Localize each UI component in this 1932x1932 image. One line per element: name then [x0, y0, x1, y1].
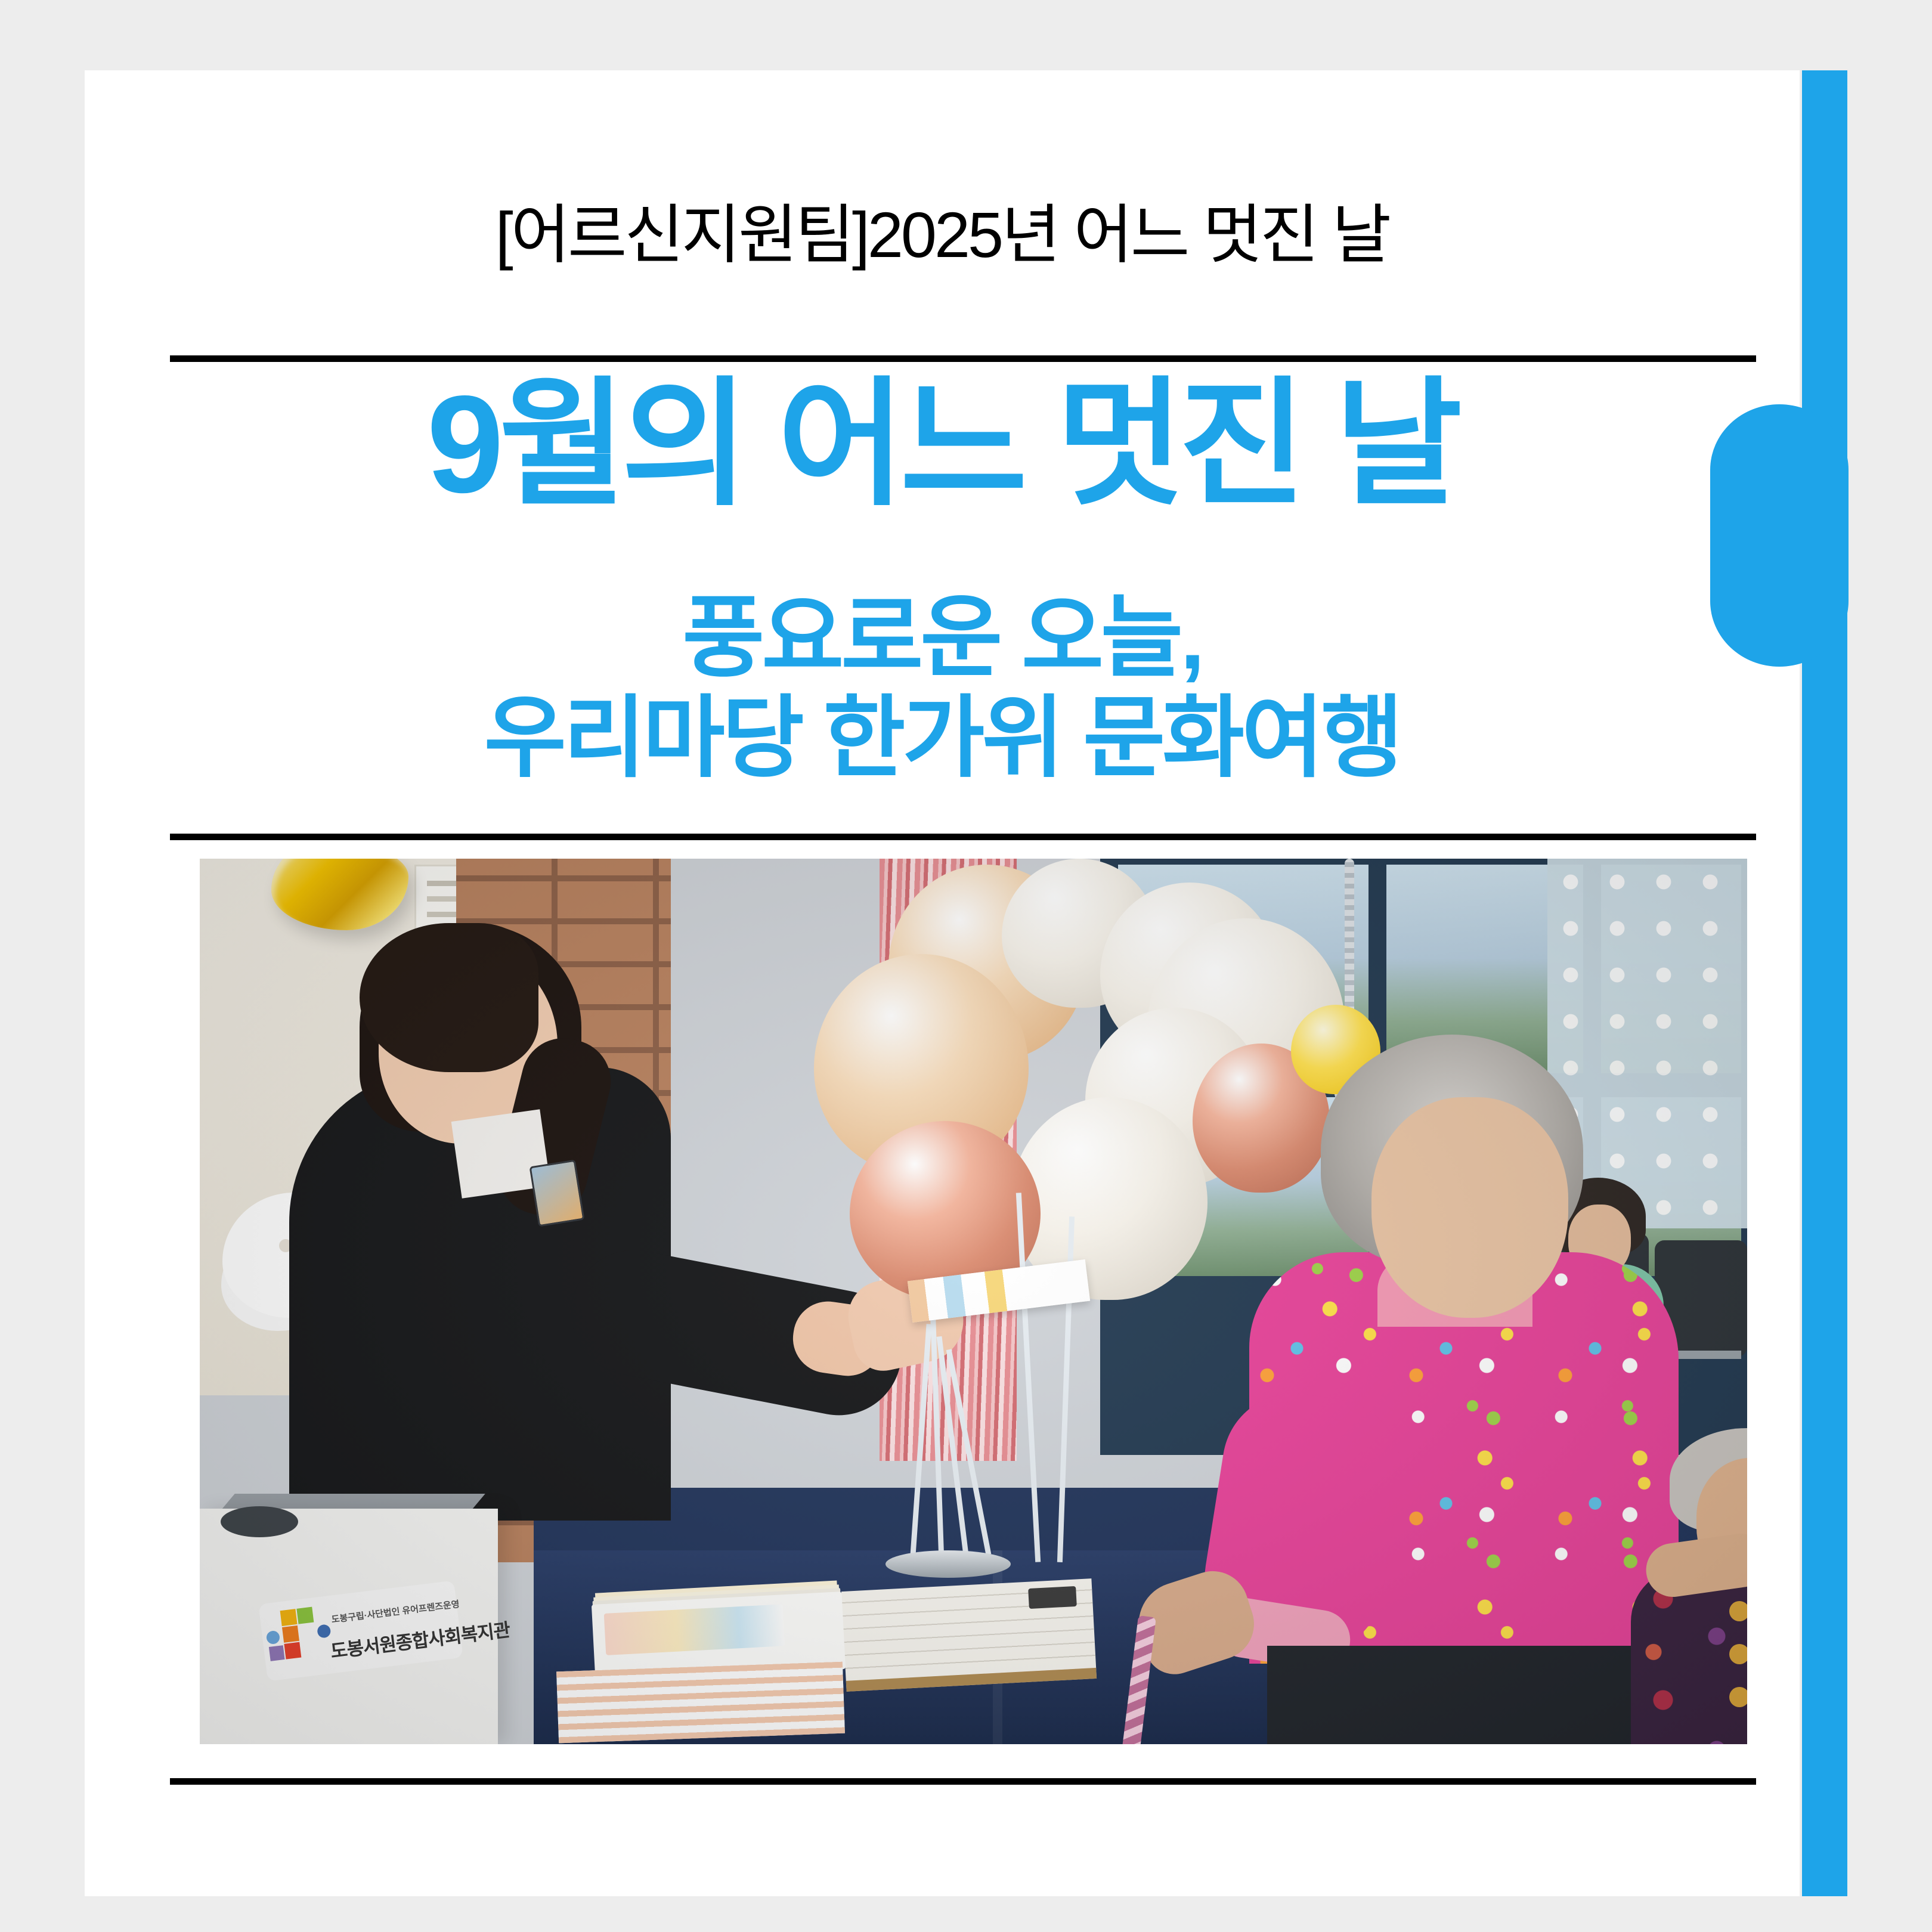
photo-color-grade — [200, 859, 1747, 1744]
accent-bar — [1802, 70, 1847, 1896]
divider-bottom — [170, 1778, 1756, 1785]
page-subtitle: 풍요로운 오늘, 우리마당 한가위 문화여행 — [85, 587, 1800, 788]
page-title: 9월의 어느 멋진 날 — [85, 376, 1800, 514]
divider-top — [170, 355, 1756, 362]
subtitle-line-2: 우리마당 한가위 문화여행 — [85, 688, 1800, 788]
event-photo: 도봉구립·사단법인 유어프렌즈운영 도봉서원종합사회복지관 — [200, 859, 1747, 1744]
subtitle-line-1: 풍요로운 오늘, — [85, 587, 1800, 688]
divider-middle — [170, 834, 1756, 840]
eyebrow-title: [어르신지원팀]2025년 어느 멋진 날 — [85, 197, 1800, 273]
